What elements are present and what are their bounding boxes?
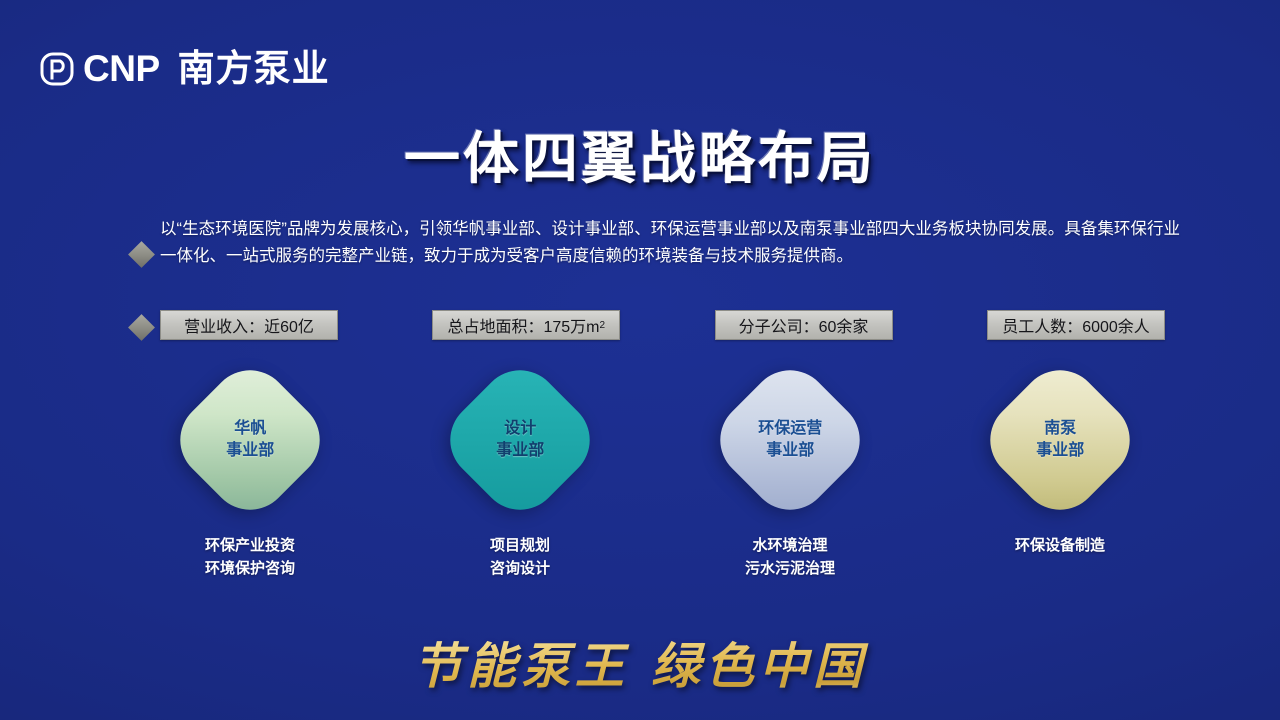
pillar-caption-env-operations: 水环境治理 污水污泥治理: [745, 534, 835, 581]
pillar-medallion-env-operations: 环保运营 事业部: [704, 354, 877, 527]
page-title: 一体四翼战略布局: [0, 128, 1280, 190]
pillar-shape-wrap-huafan: 华帆 事业部: [170, 360, 330, 520]
pillar-huafan: 华帆 事业部 环保产业投资 环境保护咨询: [150, 360, 350, 581]
brand-chinese-name: 南方泵业: [178, 50, 330, 87]
diamond-bullet-icon: [128, 241, 155, 268]
pillar-label-line1: 设计: [496, 418, 544, 440]
stat-badge-subsidiaries: 分子公司：60余家: [715, 310, 893, 340]
pillar-nanbeng: 南泵 事业部 环保设备制造: [960, 360, 1160, 581]
pillar-label-line2: 事业部: [1036, 440, 1084, 462]
pillar-caption-line1: 环保产业投资: [205, 534, 295, 557]
stat-badge-area: 总占地面积：175万m2: [432, 310, 620, 340]
diamond-bullet-icon: [128, 314, 155, 341]
brand-logo: CNP 南方泵业: [40, 50, 330, 87]
pillar-caption-line2: 咨询设计: [490, 557, 550, 580]
stat-badge-revenue: 营业收入：近60亿: [160, 310, 338, 340]
pillar-label-env-operations: 环保运营 事业部: [758, 418, 822, 461]
pillar-label-nanbeng: 南泵 事业部: [1036, 418, 1084, 461]
pillar-caption-line2: 污水污泥治理: [745, 557, 835, 580]
pillar-shape-wrap-env-operations: 环保运营 事业部: [710, 360, 870, 520]
pillar-medallion-huafan: 华帆 事业部: [164, 354, 337, 527]
pillar-shape-wrap-design: 设计 事业部: [440, 360, 600, 520]
stats-row: 营业收入：近60亿 总占地面积：175万m2 分子公司：60余家 员工人数：60…: [160, 310, 1165, 340]
pillar-label-design: 设计 事业部: [496, 418, 544, 461]
pillar-design: 设计 事业部 项目规划 咨询设计: [420, 360, 620, 581]
pillar-label-line1: 华帆: [226, 418, 274, 440]
pillar-caption-nanbeng: 环保设备制造: [1015, 534, 1105, 557]
pillar-label-line2: 事业部: [496, 440, 544, 462]
pillar-env-operations: 环保运营 事业部 水环境治理 污水污泥治理: [690, 360, 890, 581]
business-pillars-row: 华帆 事业部 环保产业投资 环境保护咨询 设计 事业部: [150, 360, 1160, 581]
stat-badge-employees: 员工人数：6000余人: [987, 310, 1165, 340]
pillar-label-huafan: 华帆 事业部: [226, 418, 274, 461]
pillar-label-line2: 事业部: [226, 440, 274, 462]
pillar-shape-wrap-nanbeng: 南泵 事业部: [980, 360, 1140, 520]
pillar-caption-line1: 项目规划: [490, 534, 550, 557]
pillar-caption-design: 项目规划 咨询设计: [490, 534, 550, 581]
footer-slogan: 节能泵王 绿色中国: [0, 627, 1280, 698]
pillar-caption-huafan: 环保产业投资 环境保护咨询: [205, 534, 295, 581]
pillar-medallion-design: 设计 事业部: [434, 354, 607, 527]
pillar-medallion-nanbeng: 南泵 事业部: [974, 354, 1147, 527]
cnp-pump-logo-icon: [40, 52, 74, 86]
pillar-caption-line1: 水环境治理: [745, 534, 835, 557]
pillar-caption-line1: 环保设备制造: [1015, 534, 1105, 557]
pillar-label-line1: 南泵: [1036, 418, 1084, 440]
pillar-caption-line2: 环境保护咨询: [205, 557, 295, 580]
slide-canvas: CNP 南方泵业 一体四翼战略布局 以“生态环境医院”品牌为发展核心，引领华帆事…: [0, 0, 1280, 720]
pillar-label-line2: 事业部: [758, 440, 822, 462]
intro-paragraph: 以“生态环境医院”品牌为发展核心，引领华帆事业部、设计事业部、环保运营事业部以及…: [160, 216, 1180, 269]
pillar-label-line1: 环保运营: [758, 418, 822, 440]
brand-wordmark: CNP: [83, 50, 160, 87]
